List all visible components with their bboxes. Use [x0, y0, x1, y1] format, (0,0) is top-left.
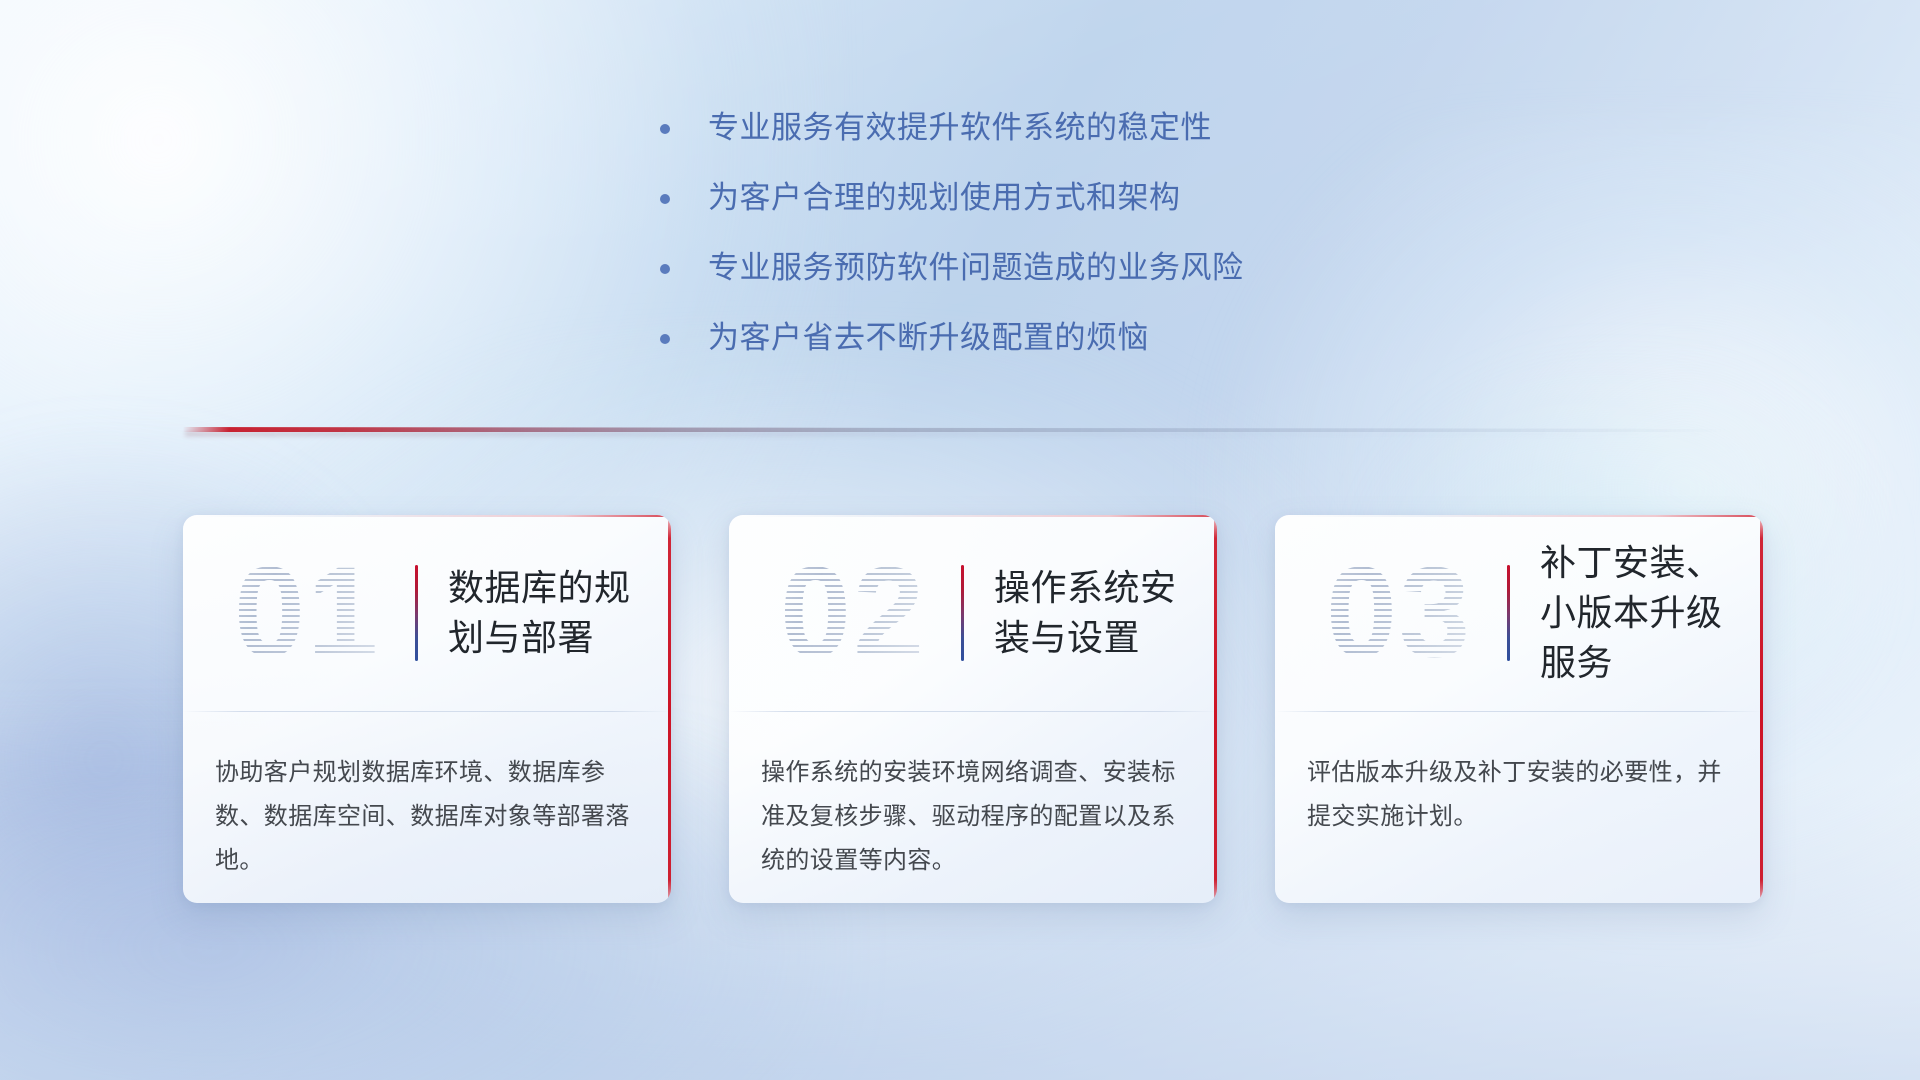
card-number-watermark: 01 [209, 549, 405, 677]
card-inner-divider [183, 711, 671, 712]
card-title: 数据库的规划与部署 [448, 563, 664, 663]
bullet-item: 专业服务预防软件问题造成的业务风险 [660, 248, 1560, 288]
card-inner-divider [1275, 711, 1763, 712]
bullet-item: 为客户省去不断升级配置的烦恼 [660, 318, 1560, 358]
bullet-item-label: 专业服务预防软件问题造成的业务风险 [708, 248, 1244, 288]
bullet-item: 为客户合理的规划使用方式和架构 [660, 178, 1560, 218]
service-card-02[interactable]: 02 操作系统安装与设置 操作系统的安装环境网络调查、安装标准及复核步骤、驱动程… [729, 515, 1217, 903]
card-title: 操作系统安装与设置 [994, 563, 1210, 663]
card-header: 02 操作系统安装与设置 [729, 515, 1217, 711]
bullet-dot-icon [660, 334, 670, 344]
bullet-dot-icon [660, 194, 670, 204]
card-accent-rule [961, 565, 964, 661]
bullet-item-label: 为客户省去不断升级配置的烦恼 [708, 318, 1149, 358]
section-divider [183, 424, 1728, 438]
service-card-list: 01 数据库的规划与部署 协助客户规划数据库环境、数据库参数、数据库空间、数据库… [183, 515, 1763, 903]
card-accent-rule [1507, 565, 1510, 661]
bullet-item: 专业服务有效提升软件系统的稳定性 [660, 108, 1560, 148]
card-description: 协助客户规划数据库环境、数据库参数、数据库空间、数据库对象等部署落地。 [215, 751, 641, 883]
bullet-item-label: 为客户合理的规划使用方式和架构 [708, 178, 1181, 218]
slide-canvas: 专业服务有效提升软件系统的稳定性 为客户合理的规划使用方式和架构 专业服务预防软… [0, 0, 1920, 1080]
card-title: 补丁安装、小版本升级服务 [1540, 538, 1756, 688]
card-description: 评估版本升级及补丁安装的必要性，并提交实施计划。 [1307, 751, 1733, 839]
card-accent-rule [415, 565, 418, 661]
bullet-dot-icon [660, 264, 670, 274]
card-header: 01 数据库的规划与部署 [183, 515, 671, 711]
section-divider-shadow [185, 432, 1715, 436]
bullet-item-label: 专业服务有效提升软件系统的稳定性 [708, 108, 1212, 148]
card-header: 03 补丁安装、小版本升级服务 [1275, 515, 1763, 711]
card-number-watermark: 02 [755, 549, 951, 677]
card-number-watermark: 03 [1301, 549, 1497, 677]
bullet-dot-icon [660, 124, 670, 134]
section-divider-bar [183, 427, 1728, 432]
card-description: 操作系统的安装环境网络调查、安装标准及复核步骤、驱动程序的配置以及系统的设置等内… [761, 751, 1187, 883]
card-inner-divider [729, 711, 1217, 712]
benefits-bullet-list: 专业服务有效提升软件系统的稳定性 为客户合理的规划使用方式和架构 专业服务预防软… [660, 108, 1560, 388]
service-card-01[interactable]: 01 数据库的规划与部署 协助客户规划数据库环境、数据库参数、数据库空间、数据库… [183, 515, 671, 903]
service-card-03[interactable]: 03 补丁安装、小版本升级服务 评估版本升级及补丁安装的必要性，并提交实施计划。 [1275, 515, 1763, 903]
